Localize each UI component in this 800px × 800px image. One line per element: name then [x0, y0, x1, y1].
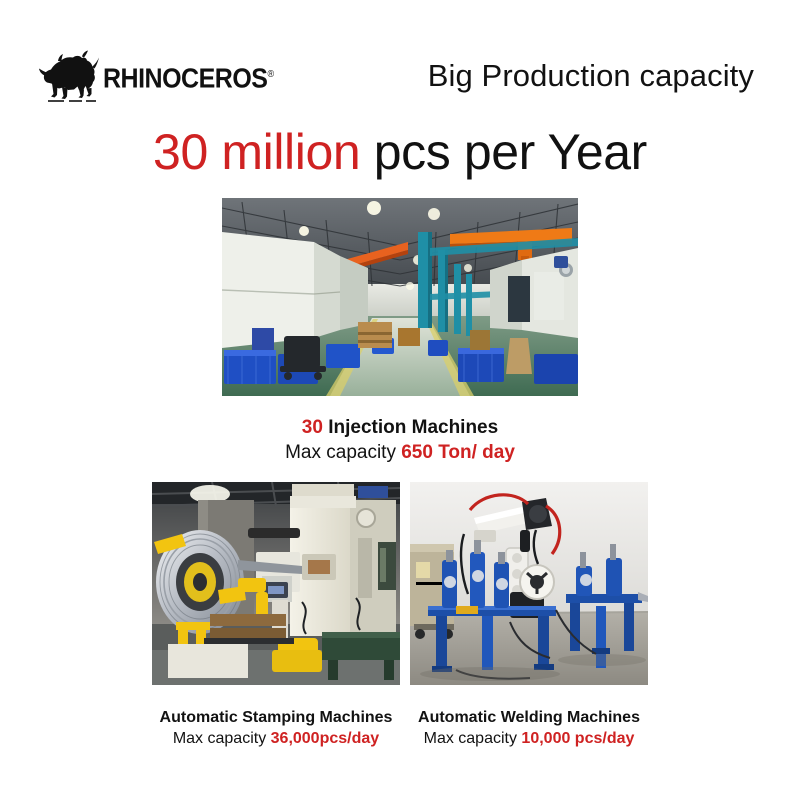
stamping-capacity-label: Max capacity — [173, 730, 271, 747]
header: RHINOCEROS® Big Production capacity — [0, 44, 800, 110]
welding-capacity-label: Max capacity — [424, 730, 522, 747]
injection-factory-photo — [222, 198, 578, 396]
stamping-caption-line1: Automatic Stamping Machines — [148, 708, 404, 729]
stamping-capacity-value: 36,000pcs/day — [271, 730, 380, 747]
stamping-caption-line2: Max capacity 36,000pcs/day — [148, 729, 404, 750]
welding-caption-line2: Max capacity 10,000 pcs/day — [404, 729, 654, 750]
injection-machine-label: Injection Machines — [323, 417, 498, 438]
stamping-caption: Automatic Stamping Machines Max capacity… — [148, 708, 404, 750]
page-title: Big Production capacity — [428, 58, 754, 94]
brand-name-text: RHINOCEROS — [103, 63, 267, 94]
brand-logo: RHINOCEROS® — [38, 46, 274, 109]
brand-name: RHINOCEROS® — [103, 65, 274, 93]
injection-capacity-value: 650 Ton/ day — [401, 442, 515, 463]
slide-canvas: RHINOCEROS® Big Production capacity 30 m… — [0, 0, 800, 800]
welding-capacity-value: 10,000 pcs/day — [521, 730, 634, 747]
injection-machine-count: 30 — [302, 417, 323, 438]
injection-caption-line1: 30 Injection Machines — [0, 416, 800, 441]
injection-caption-line2: Max capacity 650 Ton/ day — [0, 441, 800, 466]
headline: 30 million pcs per Year — [0, 126, 800, 179]
stamping-machine-photo — [152, 482, 400, 685]
rhinoceros-icon — [38, 46, 100, 109]
welding-caption-line1: Automatic Welding Machines — [404, 708, 654, 729]
welding-caption: Automatic Welding Machines Max capacity … — [404, 708, 654, 750]
injection-caption: 30 Injection Machines Max capacity 650 T… — [0, 416, 800, 465]
registered-trademark-symbol: ® — [267, 68, 273, 79]
welding-machine-photo — [410, 482, 648, 685]
headline-rest: pcs per Year — [360, 124, 647, 180]
injection-capacity-label: Max capacity — [285, 442, 401, 463]
headline-highlight: 30 million — [153, 124, 360, 180]
